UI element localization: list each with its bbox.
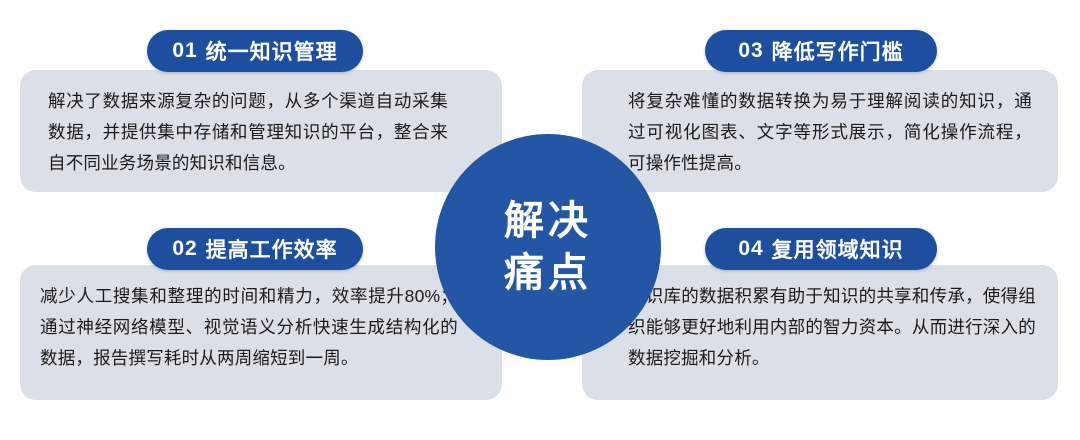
card-badge-title-04: 复用领域知识 [772,234,904,264]
card-badge-title-03: 降低写作门槛 [772,36,904,66]
card-body-02: 减少人工搜集和整理的时间和精力，效率提升80%；通过神经网络模型、视觉语义分析快… [40,281,458,374]
center-hub: 解决 痛点 [435,134,661,360]
infographic-canvas: 解决了数据来源复杂的问题，从多个渠道自动采集数据，并提供集中存储和管理知识的平台… [0,0,1080,440]
card-badge-title-02: 提高工作效率 [206,234,338,264]
card-badge-number-01: 01 [172,39,197,63]
card-badge-04[interactable]: 04 复用领域知识 [705,228,937,270]
card-body-01: 解决了数据来源复杂的问题，从多个渠道自动采集数据，并提供集中存储和管理知识的平台… [48,86,448,179]
card-body-04: 知识库的数据积累有助于知识的共享和传承，使得组织能够更好地利用内部的智力资本。从… [628,281,1036,374]
card-badge-02[interactable]: 02 提高工作效率 [147,228,363,270]
card-badge-number-02: 02 [172,237,197,261]
card-badge-number-03: 03 [738,39,763,63]
card-badge-03[interactable]: 03 降低写作门槛 [705,30,937,72]
center-hub-line-2: 痛点 [504,247,592,299]
card-body-03: 将复杂难懂的数据转换为易于理解阅读的知识，通过可视化图表、文字等形式展示，简化操… [628,86,1032,179]
card-badge-number-04: 04 [738,237,763,261]
card-badge-title-01: 统一知识管理 [206,36,338,66]
center-hub-line-1: 解决 [504,195,592,247]
card-badge-01[interactable]: 01 统一知识管理 [147,30,363,72]
